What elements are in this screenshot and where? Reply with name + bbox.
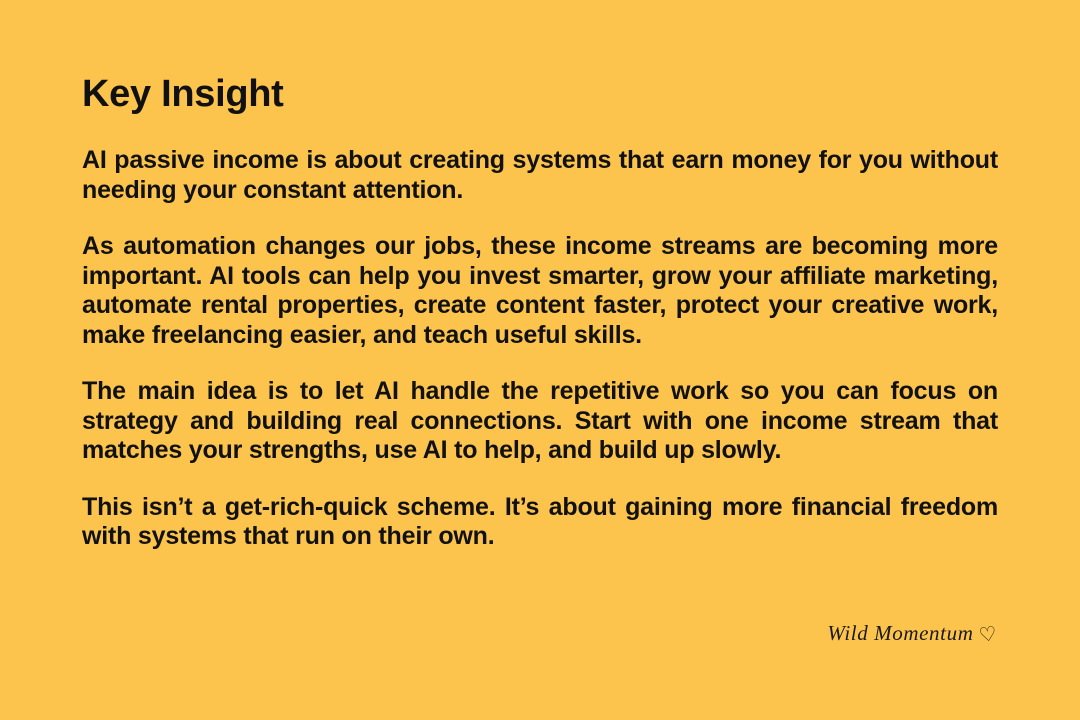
heart-outline-icon: ♡ (978, 624, 999, 646)
page-title: Key Insight (82, 72, 284, 116)
paragraph-main-idea: The main idea is to let AI handle the re… (82, 377, 998, 466)
insight-card: Key Insight AI passive income is about c… (0, 0, 1080, 720)
signature: Wild Momentum♡ (827, 620, 998, 646)
paragraph-definition: AI passive income is about creating syst… (82, 146, 998, 205)
insight-body: AI passive income is about creating syst… (82, 146, 998, 552)
paragraph-automation-trend: As automation changes our jobs, these in… (82, 232, 998, 350)
signature-name: Wild Momentum (827, 621, 973, 645)
paragraph-closing-caveat: This isn’t a get-rich-quick scheme. It’s… (82, 493, 998, 552)
